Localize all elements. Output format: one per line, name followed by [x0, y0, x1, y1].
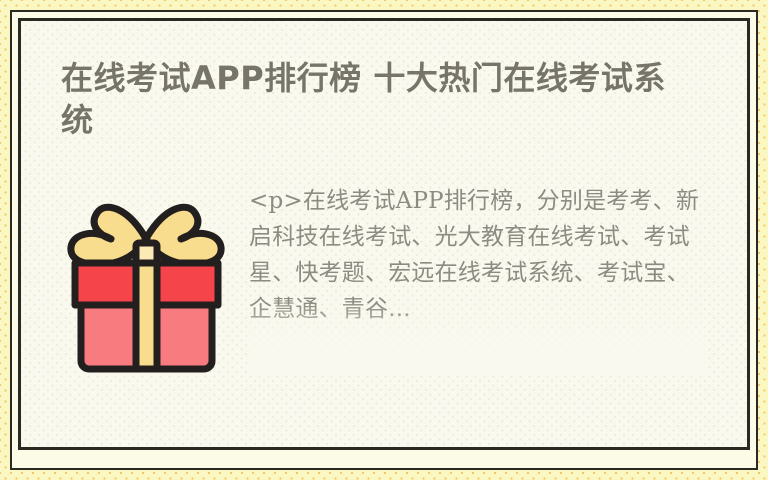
inner-frame-border: 在线考试APP排行榜 十大热门在线考试系统: [18, 18, 750, 450]
article-card-page: 在线考试APP排行榜 十大热门在线考试系统: [0, 0, 768, 480]
gift-box-icon: [61, 183, 231, 383]
page-title: 在线考试APP排行榜 十大热门在线考试系统: [61, 57, 691, 141]
card-body-row: <p>在线考试APP排行榜，分别是考考、新启科技在线考试、光大教育在线考试、考试…: [61, 183, 707, 383]
card-excerpt: <p>在线考试APP排行榜，分别是考考、新启科技在线考试、光大教育在线考试、考试…: [249, 183, 707, 327]
card-content: 在线考试APP排行榜 十大热门在线考试系统: [21, 21, 747, 447]
card-excerpt-wrapper: <p>在线考试APP排行榜，分别是考考、新启科技在线考试、光大教育在线考试、考试…: [249, 183, 707, 373]
